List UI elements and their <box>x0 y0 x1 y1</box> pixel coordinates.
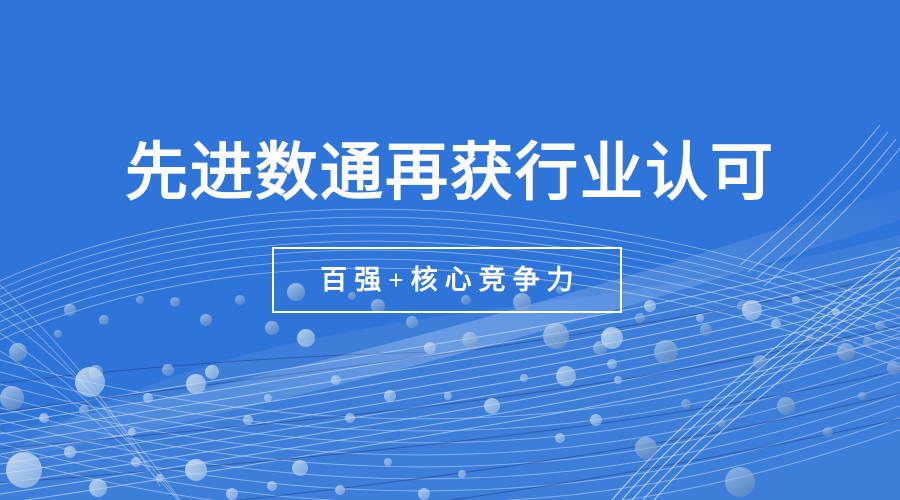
subtitle-text: 百强+核心竞争力 <box>313 265 580 295</box>
subtitle-badge: 百强+核心竞争力 <box>272 247 622 313</box>
text-layer: 先进数通再获行业认可 百强+核心竞争力 <box>0 0 900 500</box>
banner-graphic: 先进数通再获行业认可 百强+核心竞争力 <box>0 0 900 500</box>
page-title: 先进数通再获行业认可 <box>0 138 900 208</box>
